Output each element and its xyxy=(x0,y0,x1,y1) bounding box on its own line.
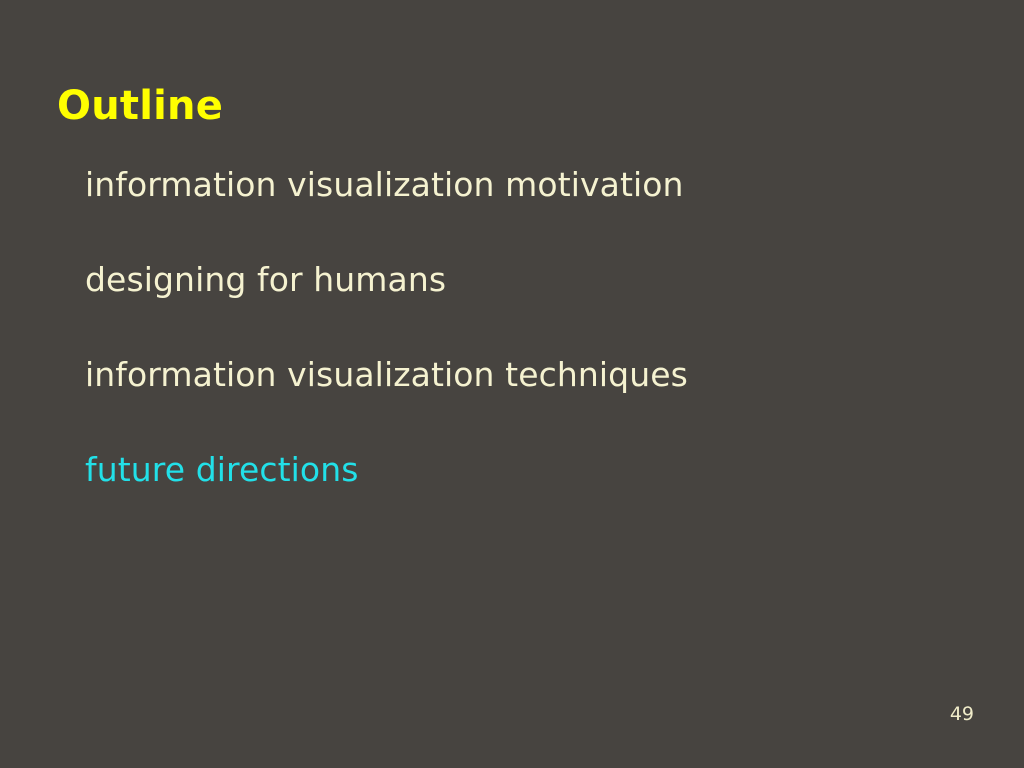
outline-list: information visualization motivation des… xyxy=(85,163,965,543)
outline-item-label: designing for humans xyxy=(85,260,446,299)
outline-item-label: information visualization techniques xyxy=(85,355,688,394)
outline-item-information-visualization-motivation[interactable]: information visualization motivation xyxy=(85,163,965,258)
outline-item-information-visualization-techniques[interactable]: information visualization techniques xyxy=(85,353,965,448)
page-title: Outline xyxy=(57,83,223,129)
outline-item-label: future directions xyxy=(85,450,359,489)
presentation-slide: Outline information visualization motiva… xyxy=(0,0,1024,768)
outline-item-label: information visualization motivation xyxy=(85,165,684,204)
outline-item-designing-for-humans[interactable]: designing for humans xyxy=(85,258,965,353)
page-number: 49 xyxy=(950,705,974,724)
outline-item-future-directions[interactable]: future directions xyxy=(85,448,965,543)
